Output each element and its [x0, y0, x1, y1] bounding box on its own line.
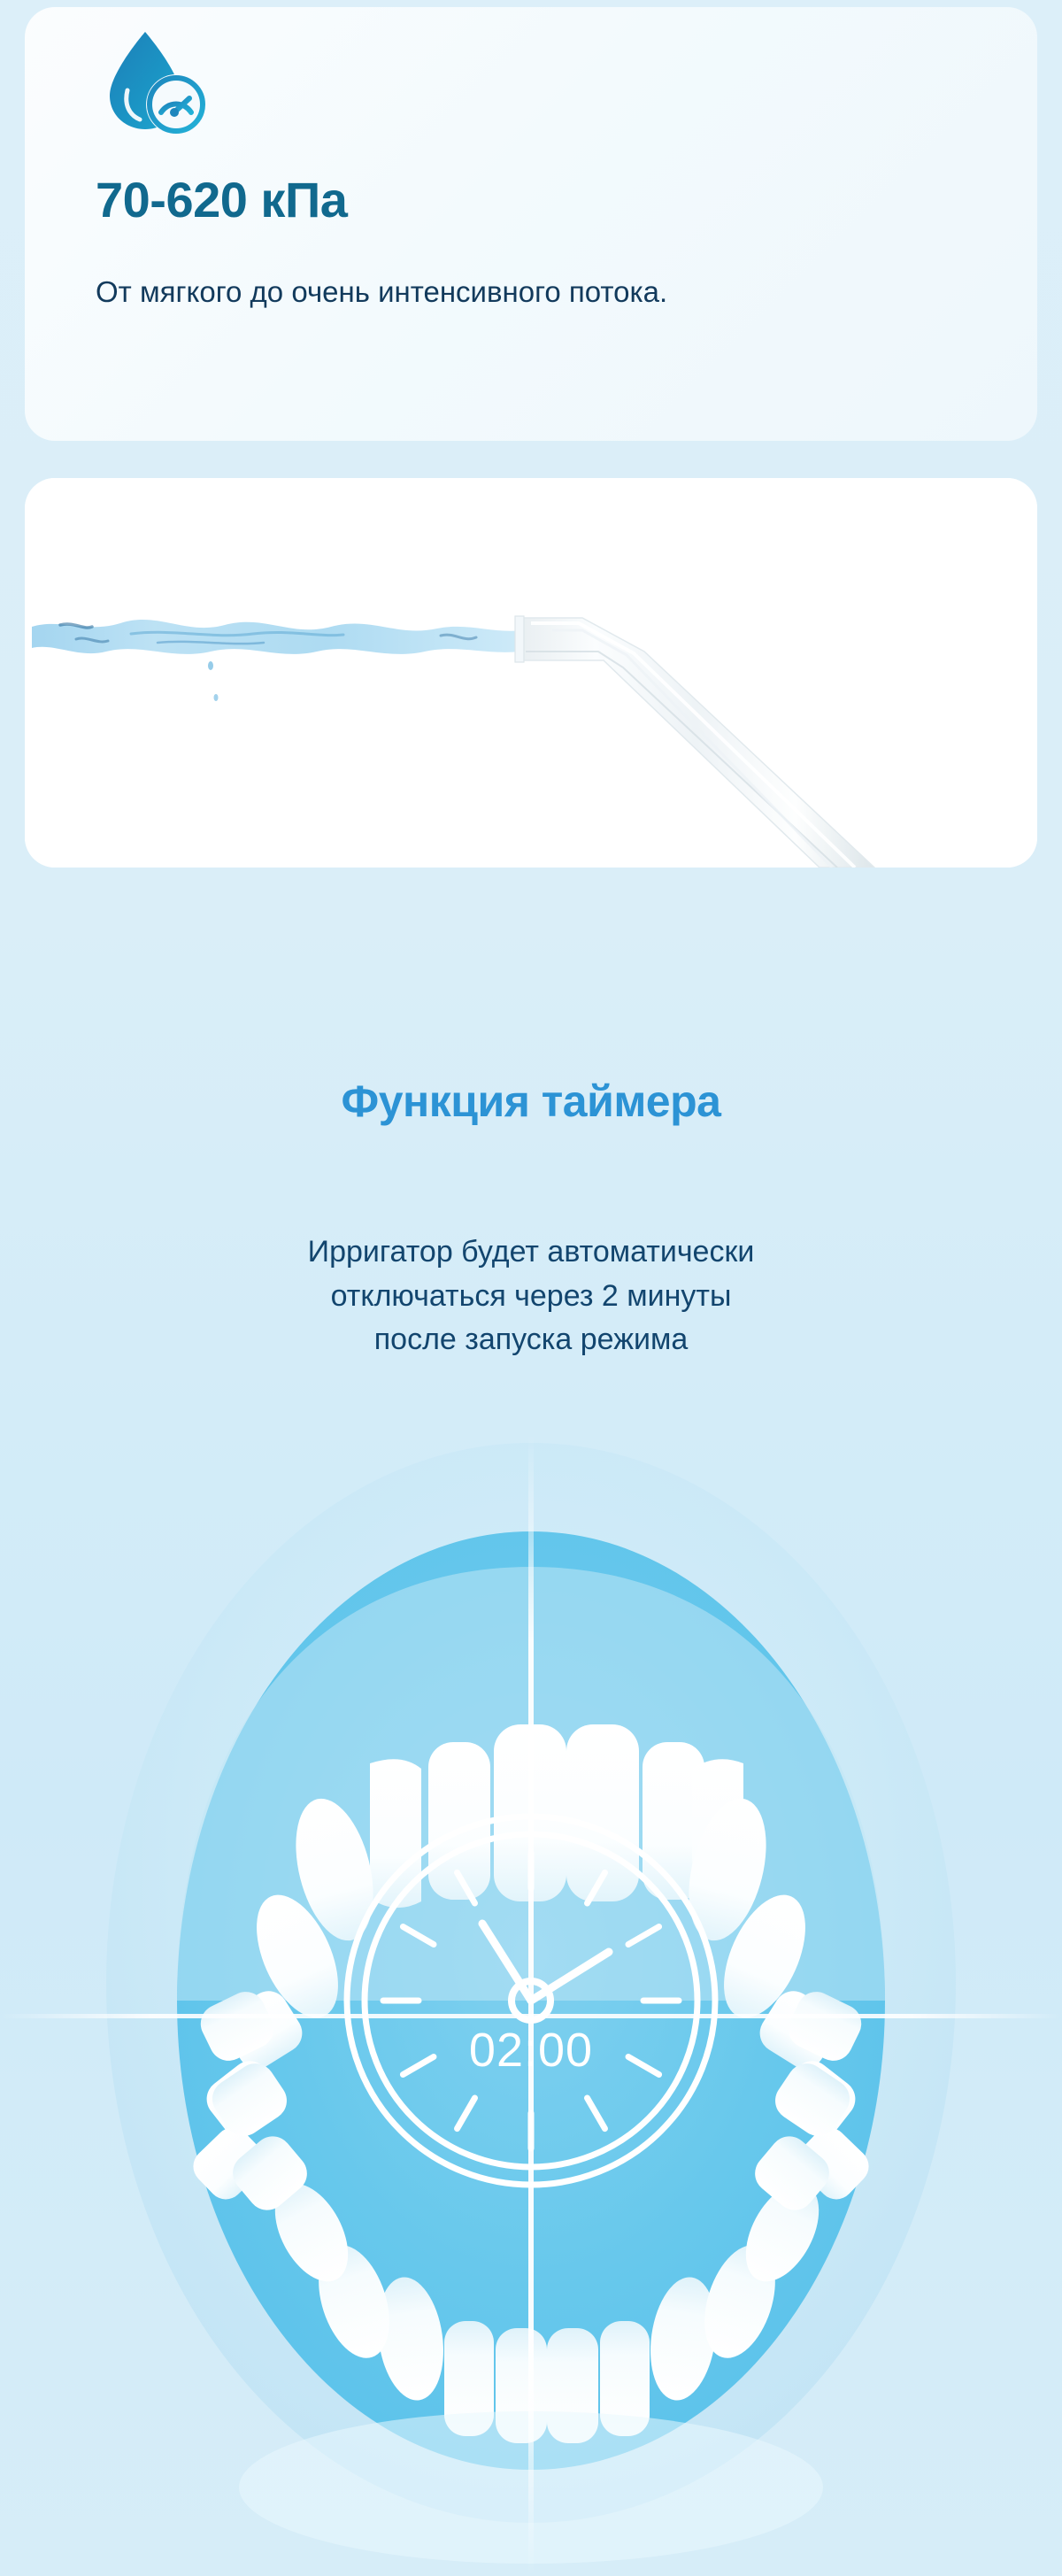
timer-section-description: Ирригатор будет автоматически отключатьс… — [0, 1230, 1062, 1362]
pressure-description: От мягкого до очень интенсивного потока. — [96, 273, 927, 312]
product-feature-page: 70-620 кПа От мягкого до очень интенсивн… — [0, 0, 1062, 2576]
timer-desc-line-2: отключаться через 2 минуты — [0, 1275, 1062, 1319]
clock-digital-time: 02:00 — [341, 2023, 721, 2078]
timer-desc-line-1: Ирригатор будет автоматически — [0, 1230, 1062, 1275]
timer-section-heading: Функция таймера — [0, 1076, 1062, 1127]
irrigator-nozzle-water-jet-image — [25, 478, 1037, 868]
clock-minute-hand — [531, 1952, 609, 2001]
clock-hour-hand — [482, 1924, 531, 2001]
water-drop-pressure-gauge-icon — [94, 27, 207, 140]
water-jet-image-card — [25, 478, 1037, 868]
pressure-title: 70-620 кПа — [96, 171, 347, 228]
timer-desc-line-3: после запуска режима — [0, 1318, 1062, 1362]
timer-clock: 02:00 — [341, 1810, 721, 2191]
pressure-spec-card: 70-620 кПа От мягкого до очень интенсивн… — [25, 7, 1037, 441]
clock-face-svg — [341, 1810, 721, 2191]
